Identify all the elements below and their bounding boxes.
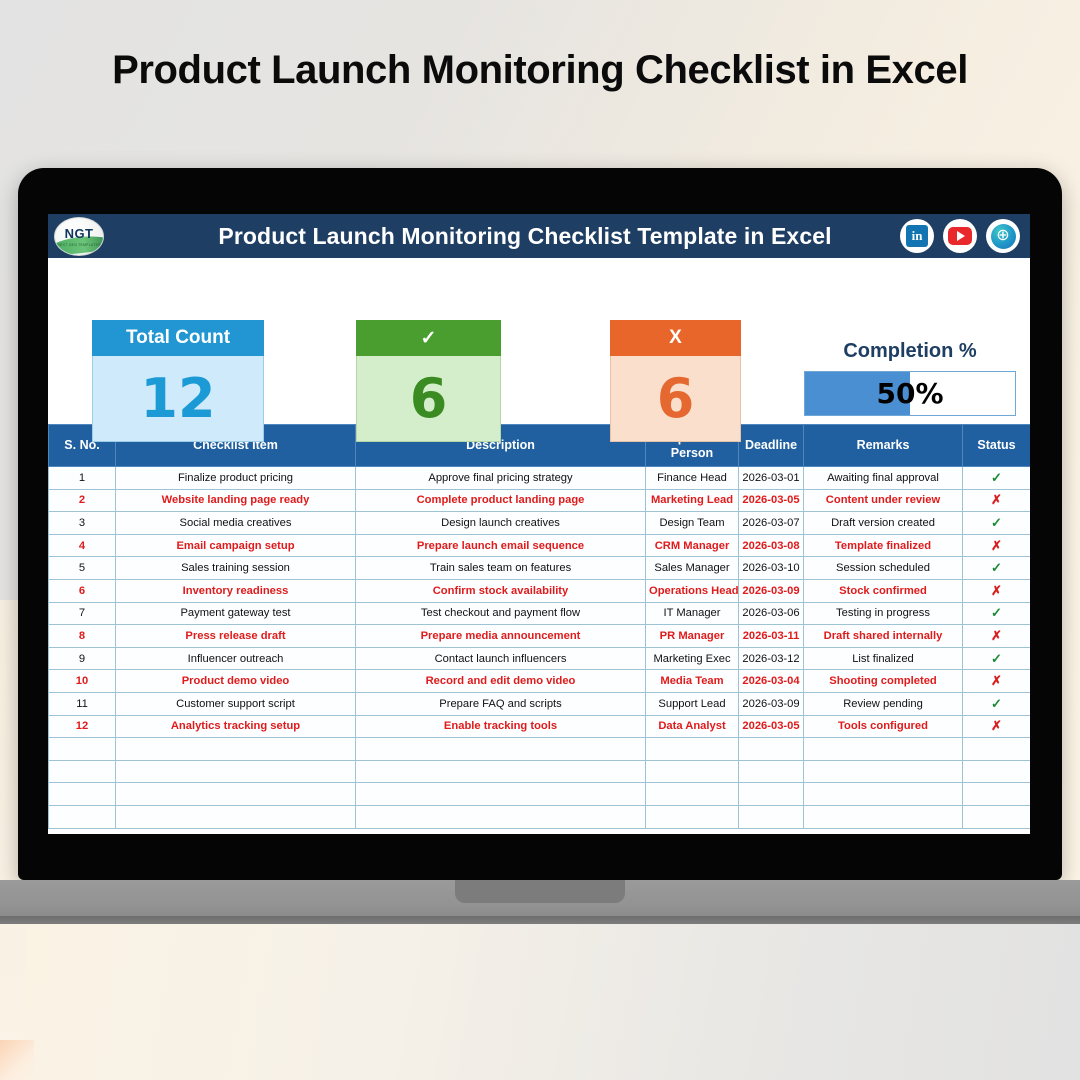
cross-icon: X	[610, 320, 741, 356]
cell-remarks[interactable]: Draft shared internally	[804, 625, 963, 648]
cell-no[interactable]: 3	[49, 512, 116, 535]
table-row[interactable]: 1Finalize product pricingApprove final p…	[49, 467, 1031, 490]
cell-no[interactable]: 11	[49, 692, 116, 715]
cell-item[interactable]: Finalize product pricing	[116, 467, 356, 490]
cell-deadline[interactable]: 2026-03-06	[739, 602, 804, 625]
website-icon[interactable]: ⊕	[986, 219, 1020, 253]
cell-empty[interactable]	[646, 738, 739, 761]
cell-no[interactable]: 2	[49, 489, 116, 512]
table-row-empty[interactable]	[49, 760, 1031, 783]
table-header-status[interactable]: Status	[963, 425, 1031, 467]
status-check-icon[interactable]: ✓	[963, 692, 1031, 715]
cell-empty[interactable]	[739, 783, 804, 806]
cell-person[interactable]: PR Manager	[646, 625, 739, 648]
cell-remarks[interactable]: List finalized	[804, 647, 963, 670]
table-row[interactable]: 10Product demo videoRecord and edit demo…	[49, 670, 1031, 693]
cell-item[interactable]: Product demo video	[116, 670, 356, 693]
cell-remarks[interactable]: Session scheduled	[804, 557, 963, 580]
cell-no[interactable]: 6	[49, 579, 116, 602]
cell-person[interactable]: Data Analyst	[646, 715, 739, 738]
table-row[interactable]: 5Sales training sessionTrain sales team …	[49, 557, 1031, 580]
cell-desc[interactable]: Prepare launch email sequence	[356, 534, 646, 557]
check-icon: ✓	[356, 320, 501, 356]
cell-deadline[interactable]: 2026-03-12	[739, 647, 804, 670]
cell-desc[interactable]: Prepare FAQ and scripts	[356, 692, 646, 715]
cell-desc[interactable]: Enable tracking tools	[356, 715, 646, 738]
cell-person[interactable]: Marketing Exec	[646, 647, 739, 670]
page-title: Product Launch Monitoring Checklist in E…	[0, 48, 1080, 93]
excel-screen: NGT NEXT GEN TEMPLATES Product Launch Mo…	[48, 214, 1030, 834]
cell-no[interactable]: 5	[49, 557, 116, 580]
completion-progress-bar: 50%	[804, 371, 1016, 416]
cell-empty[interactable]	[963, 783, 1031, 806]
cell-item[interactable]: Social media creatives	[116, 512, 356, 535]
cell-item[interactable]: Customer support script	[116, 692, 356, 715]
status-check-icon[interactable]: ✓	[963, 467, 1031, 490]
cell-no[interactable]: 12	[49, 715, 116, 738]
youtube-glyph	[948, 227, 972, 245]
table-header-deadline[interactable]: Deadline	[739, 425, 804, 467]
cell-deadline[interactable]: 2026-03-04	[739, 670, 804, 693]
status-check-icon[interactable]: ✓	[963, 647, 1031, 670]
table-row[interactable]: 8Press release draftPrepare media announ…	[49, 625, 1031, 648]
cell-person[interactable]: Finance Head	[646, 467, 739, 490]
logo-subtitle: NEXT GEN TEMPLATES	[57, 243, 100, 247]
cell-person[interactable]: Support Lead	[646, 692, 739, 715]
cell-deadline[interactable]: 2026-03-05	[739, 489, 804, 512]
cell-desc[interactable]: Record and edit demo video	[356, 670, 646, 693]
background-corner-accent	[0, 1040, 34, 1080]
table-row-empty[interactable]	[49, 805, 1031, 828]
cell-remarks[interactable]: Template finalized	[804, 534, 963, 557]
completion-label: Completion %	[804, 340, 1016, 363]
cell-empty[interactable]	[963, 738, 1031, 761]
cell-empty[interactable]	[49, 805, 116, 828]
cell-deadline[interactable]: 2026-03-09	[739, 692, 804, 715]
cell-desc[interactable]: Confirm stock availability	[356, 579, 646, 602]
cell-item[interactable]: Press release draft	[116, 625, 356, 648]
cell-no[interactable]: 9	[49, 647, 116, 670]
cell-empty[interactable]	[356, 738, 646, 761]
cell-empty[interactable]	[963, 805, 1031, 828]
status-cross-icon[interactable]: ✗	[963, 715, 1031, 738]
cell-desc[interactable]: Approve final pricing strategy	[356, 467, 646, 490]
cell-no[interactable]: 10	[49, 670, 116, 693]
cell-empty[interactable]	[646, 805, 739, 828]
cell-empty[interactable]	[49, 760, 116, 783]
cell-deadline[interactable]: 2026-03-07	[739, 512, 804, 535]
cell-empty[interactable]	[804, 738, 963, 761]
cell-person[interactable]: Design Team	[646, 512, 739, 535]
status-check-icon[interactable]: ✓	[963, 512, 1031, 535]
globe-glyph: ⊕	[991, 224, 1016, 249]
cell-remarks[interactable]: Testing in progress	[804, 602, 963, 625]
cell-remarks[interactable]: Awaiting final approval	[804, 467, 963, 490]
laptop-base-notch	[455, 880, 625, 903]
cell-empty[interactable]	[116, 738, 356, 761]
cell-remarks[interactable]: Shooting completed	[804, 670, 963, 693]
cell-empty[interactable]	[116, 805, 356, 828]
cell-remarks[interactable]: Tools configured	[804, 715, 963, 738]
cell-person[interactable]: Operations Head	[646, 579, 739, 602]
cell-empty[interactable]	[356, 783, 646, 806]
cell-deadline[interactable]: 2026-03-05	[739, 715, 804, 738]
cell-deadline[interactable]: 2026-03-08	[739, 534, 804, 557]
completion-percent-value: 50%	[805, 372, 1015, 415]
cell-item[interactable]: Analytics tracking setup	[116, 715, 356, 738]
template-banner: NGT NEXT GEN TEMPLATES Product Launch Mo…	[48, 214, 1030, 258]
cell-empty[interactable]	[49, 783, 116, 806]
cell-empty[interactable]	[49, 738, 116, 761]
cell-empty[interactable]	[739, 805, 804, 828]
cell-empty[interactable]	[739, 760, 804, 783]
cell-desc[interactable]: Complete product landing page	[356, 489, 646, 512]
banner-title: Product Launch Monitoring Checklist Temp…	[48, 223, 1030, 250]
kpi-completed-value: 6	[356, 356, 501, 442]
cell-item[interactable]: Email campaign setup	[116, 534, 356, 557]
cell-desc[interactable]: Prepare media announcement	[356, 625, 646, 648]
cell-empty[interactable]	[963, 760, 1031, 783]
cell-remarks[interactable]: Review pending	[804, 692, 963, 715]
cell-empty[interactable]	[356, 760, 646, 783]
kpi-card-pending: X 6	[610, 320, 741, 442]
cell-item[interactable]: Influencer outreach	[116, 647, 356, 670]
logo-text: NGT	[65, 227, 94, 240]
cell-desc[interactable]: Design launch creatives	[356, 512, 646, 535]
cell-empty[interactable]	[804, 760, 963, 783]
cell-person[interactable]: Media Team	[646, 670, 739, 693]
status-cross-icon[interactable]: ✗	[963, 489, 1031, 512]
status-check-icon[interactable]: ✓	[963, 557, 1031, 580]
cell-empty[interactable]	[739, 738, 804, 761]
checklist-table: S. No.Checklist ItemDescriptionResponsib…	[48, 424, 1030, 829]
kpi-total-label: Total Count	[92, 320, 264, 356]
cell-person[interactable]: CRM Manager	[646, 534, 739, 557]
status-check-icon[interactable]: ✓	[963, 602, 1031, 625]
table-header-remarks[interactable]: Remarks	[804, 425, 963, 467]
status-cross-icon[interactable]: ✗	[963, 579, 1031, 602]
cell-desc[interactable]: Train sales team on features	[356, 557, 646, 580]
status-cross-icon[interactable]: ✗	[963, 534, 1031, 557]
cell-empty[interactable]	[116, 783, 356, 806]
linkedin-glyph: in	[906, 225, 928, 247]
youtube-icon[interactable]	[943, 219, 977, 253]
table-row[interactable]: 12Analytics tracking setupEnable trackin…	[49, 715, 1031, 738]
kpi-card-total-count: Total Count 12	[92, 320, 264, 442]
table-row-empty[interactable]	[49, 738, 1031, 761]
laptop-base-lip	[0, 916, 1080, 924]
table-row-empty[interactable]	[49, 783, 1031, 806]
cell-person[interactable]: Marketing Lead	[646, 489, 739, 512]
cell-item[interactable]: Payment gateway test	[116, 602, 356, 625]
cell-deadline[interactable]: 2026-03-01	[739, 467, 804, 490]
cell-person[interactable]: IT Manager	[646, 602, 739, 625]
cell-desc[interactable]: Contact launch influencers	[356, 647, 646, 670]
kpi-total-value: 12	[92, 356, 264, 442]
cell-desc[interactable]: Test checkout and payment flow	[356, 602, 646, 625]
cell-no[interactable]: 7	[49, 602, 116, 625]
table-body: 1Finalize product pricingApprove final p…	[49, 467, 1031, 829]
kpi-card-completed: ✓ 6	[356, 320, 501, 442]
status-cross-icon[interactable]: ✗	[963, 670, 1031, 693]
table-row[interactable]: 2Website landing page readyComplete prod…	[49, 489, 1031, 512]
cell-empty[interactable]	[646, 783, 739, 806]
cell-remarks[interactable]: Content under review	[804, 489, 963, 512]
cell-remarks[interactable]: Stock confirmed	[804, 579, 963, 602]
kpi-pending-value: 6	[610, 356, 741, 442]
completion-block: Completion % 50%	[804, 340, 1016, 416]
kpi-dashboard: Total Count 12 ✓ 6 X 6 Completion % 50%	[48, 258, 1030, 424]
social-links: in ⊕	[900, 219, 1020, 253]
cell-empty[interactable]	[356, 805, 646, 828]
cell-item[interactable]: Website landing page ready	[116, 489, 356, 512]
table-row[interactable]: 7Payment gateway testTest checkout and p…	[49, 602, 1031, 625]
cell-remarks[interactable]: Draft version created	[804, 512, 963, 535]
cell-empty[interactable]	[116, 760, 356, 783]
cell-empty[interactable]	[646, 760, 739, 783]
cell-deadline[interactable]: 2026-03-10	[739, 557, 804, 580]
cell-person[interactable]: Sales Manager	[646, 557, 739, 580]
cell-empty[interactable]	[804, 783, 963, 806]
table-row[interactable]: 3Social media creativesDesign launch cre…	[49, 512, 1031, 535]
linkedin-icon[interactable]: in	[900, 219, 934, 253]
cell-item[interactable]: Inventory readiness	[116, 579, 356, 602]
cell-no[interactable]: 4	[49, 534, 116, 557]
status-cross-icon[interactable]: ✗	[963, 625, 1031, 648]
ngt-logo: NGT NEXT GEN TEMPLATES	[54, 217, 104, 256]
table-row[interactable]: 9Influencer outreachContact launch influ…	[49, 647, 1031, 670]
cell-item[interactable]: Sales training session	[116, 557, 356, 580]
cell-deadline[interactable]: 2026-03-09	[739, 579, 804, 602]
cell-no[interactable]: 1	[49, 467, 116, 490]
cell-deadline[interactable]: 2026-03-11	[739, 625, 804, 648]
cell-empty[interactable]	[804, 805, 963, 828]
cell-no[interactable]: 8	[49, 625, 116, 648]
table-row[interactable]: 11Customer support scriptPrepare FAQ and…	[49, 692, 1031, 715]
table-row[interactable]: 6Inventory readinessConfirm stock availa…	[49, 579, 1031, 602]
table-row[interactable]: 4Email campaign setupPrepare launch emai…	[49, 534, 1031, 557]
